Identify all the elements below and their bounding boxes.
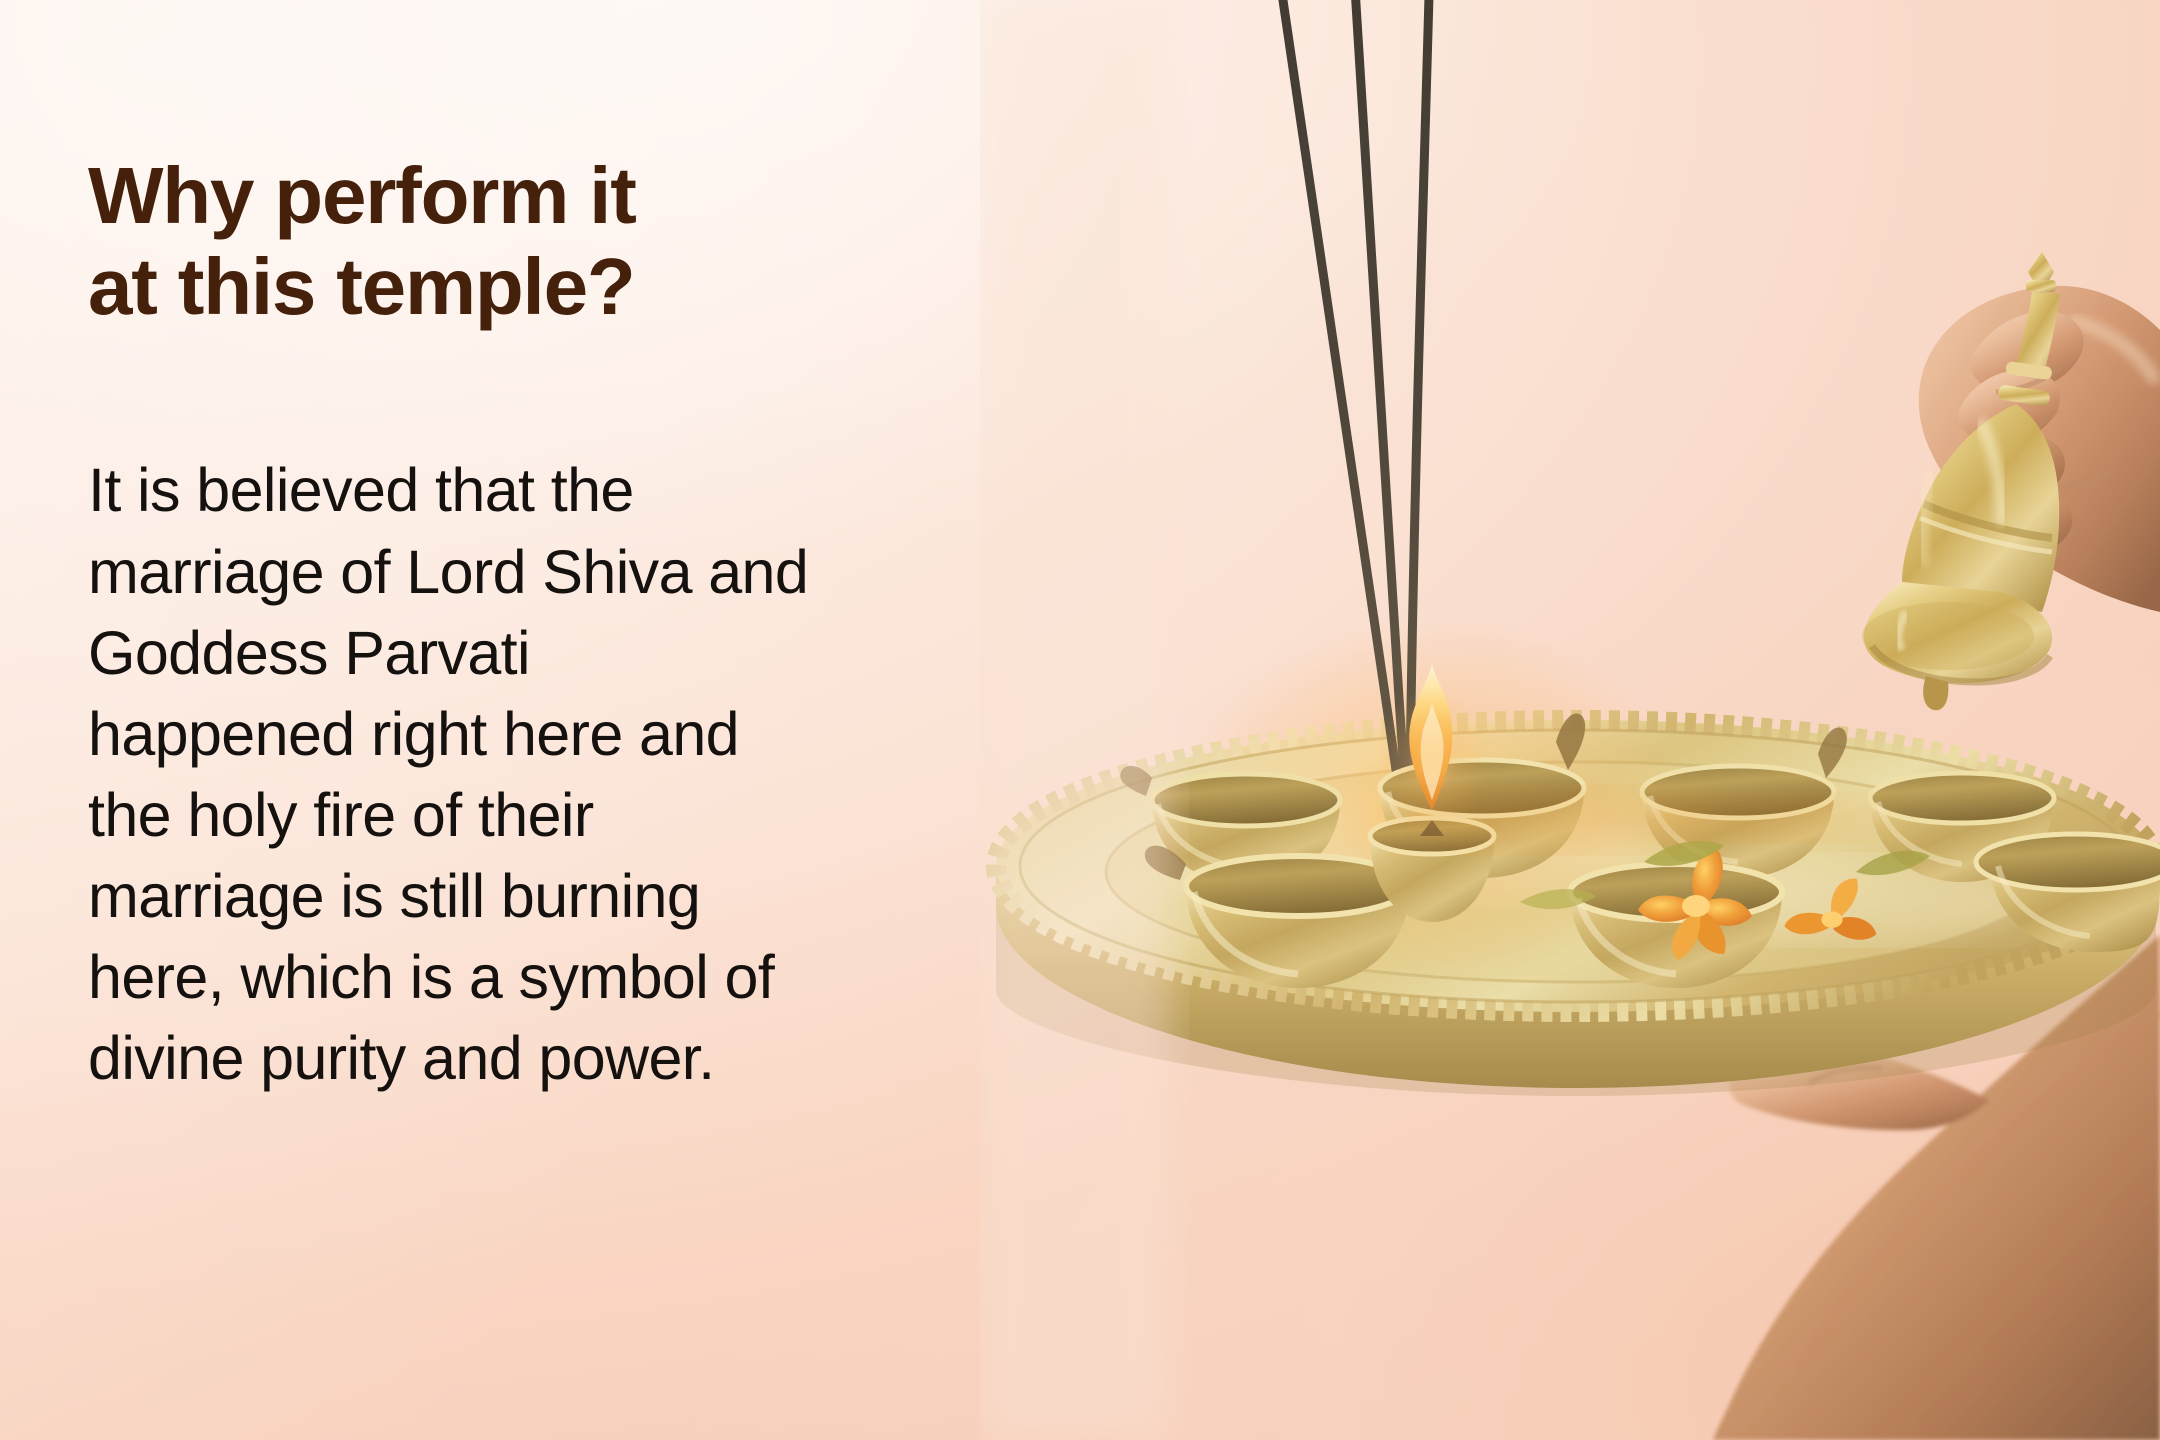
body-line-8: divine purity and power.	[88, 1018, 848, 1099]
slide-canvas: Why perform it at this temple? It is bel…	[0, 0, 2160, 1440]
body-paragraph: It is believed that the marriage of Lord…	[88, 332, 848, 1099]
body-line-1: It is believed that the	[88, 450, 848, 531]
body-line-5: the holy fire of their	[88, 775, 848, 856]
puja-scene-illustration	[980, 0, 2160, 1440]
body-line-6: marriage is still burning	[88, 856, 848, 937]
headline-line-2: at this temple?	[88, 241, 1028, 332]
page-title: Why perform it at this temple?	[88, 150, 1028, 332]
body-line-3: Goddess Parvati	[88, 613, 848, 694]
body-line-7: here, which is a symbol of	[88, 937, 848, 1018]
body-line-2: marriage of Lord Shiva and	[88, 532, 848, 613]
text-panel: Why perform it at this temple? It is bel…	[88, 150, 1028, 1099]
headline-line-1: Why perform it	[88, 150, 1028, 241]
body-line-4: happened right here and	[88, 694, 848, 775]
puja-thali-photo	[980, 0, 2160, 1440]
